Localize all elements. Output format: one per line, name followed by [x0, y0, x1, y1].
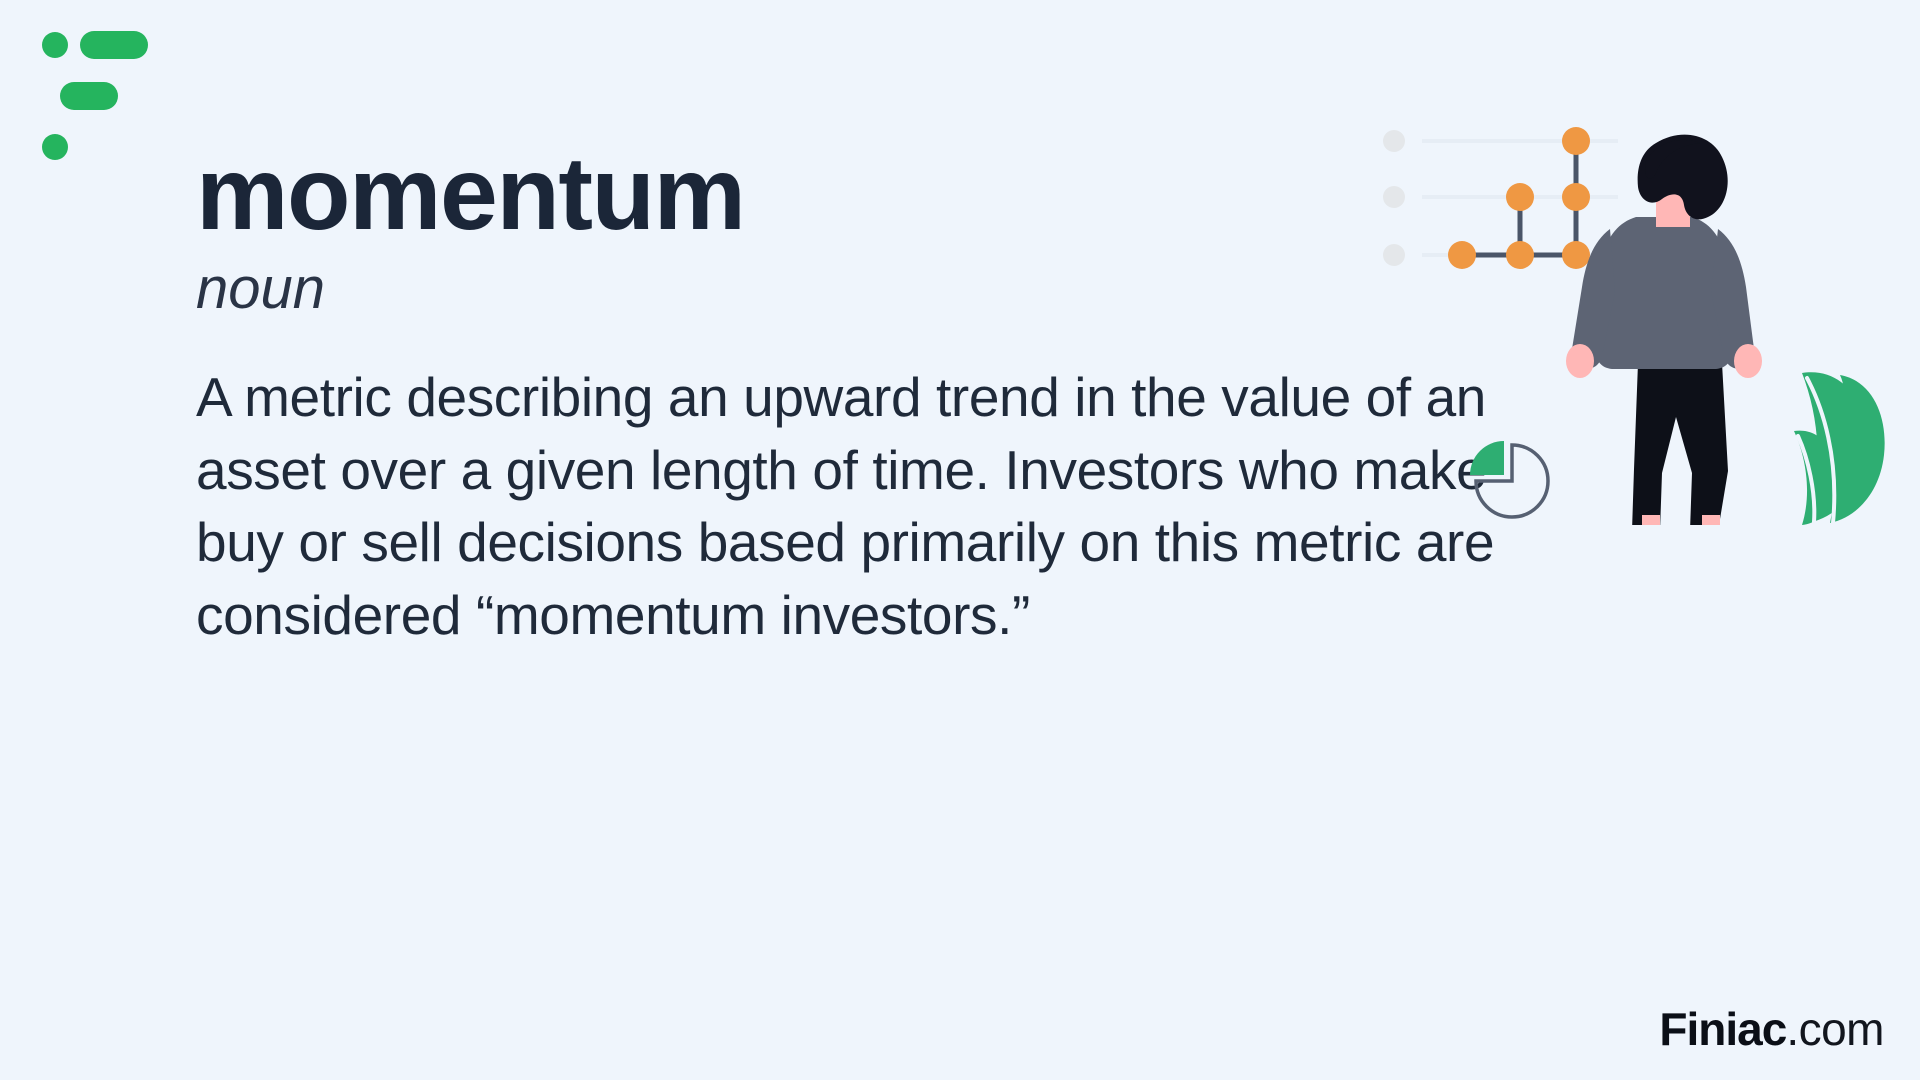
wordmark-brand: Finiac [1659, 1003, 1786, 1055]
wordmark-tld: .com [1786, 1003, 1884, 1055]
pie-chart-icon [1470, 441, 1548, 517]
definition-card: momentum noun A metric describing an upw… [0, 0, 1920, 1080]
logo-bar-middle-icon [60, 82, 118, 110]
chart-axis-dots [1383, 130, 1405, 266]
logo-bar-top-icon [80, 31, 148, 59]
finiac-logo-mark[interactable] [40, 30, 150, 130]
definition-body: A metric describing an upward trend in t… [196, 361, 1506, 651]
investor-step-chart-illustration [1370, 125, 1890, 525]
logo-dot-top-icon [42, 32, 68, 58]
plant-illustration [1794, 372, 1885, 525]
definition-text-block: momentum noun A metric describing an upw… [196, 140, 1516, 651]
term-title: momentum [196, 140, 1516, 249]
person-illustration [1566, 135, 1762, 525]
logo-dot-bottom-icon [42, 134, 68, 160]
finiac-wordmark[interactable]: Finiac.com [1659, 1006, 1884, 1052]
part-of-speech-label: noun [196, 257, 1516, 321]
